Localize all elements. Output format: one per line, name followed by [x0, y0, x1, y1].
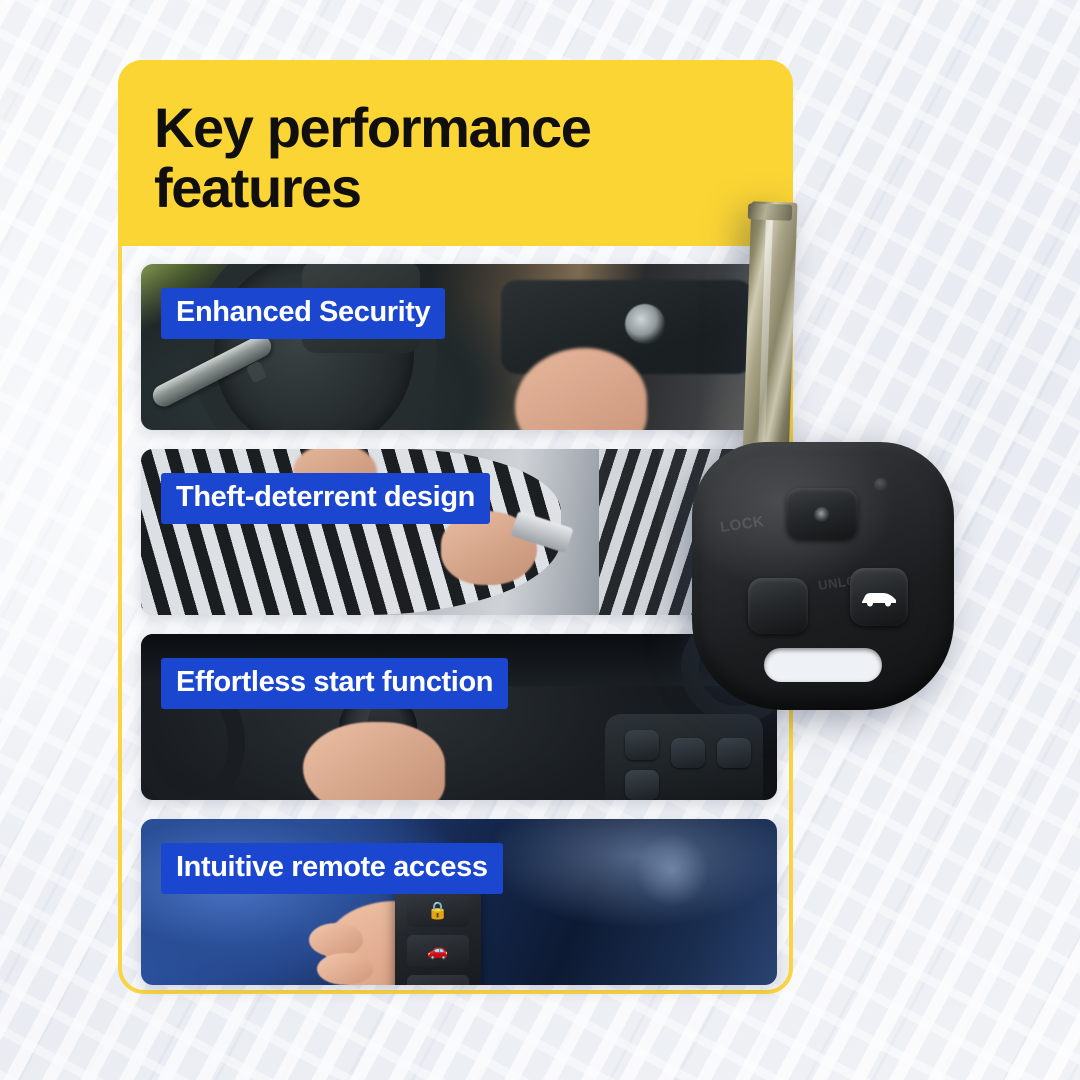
key-ring-hole: [764, 648, 882, 682]
console-button-power: [625, 730, 659, 760]
bokeh-light-circle: [635, 833, 709, 907]
console-button-vol: [625, 770, 659, 800]
hand-turning-key: [303, 722, 445, 800]
console-button-nav: [671, 738, 705, 768]
console-button-home: [717, 738, 751, 768]
finger-1: [309, 923, 363, 957]
feature-badge-2: Theft-deterrent design: [161, 473, 490, 524]
infographic-page: Key performance features Enhanced Securi…: [0, 0, 1080, 1080]
key-blade-tip-notch: [748, 203, 793, 221]
product-key-fob-image: LOCK UNLOCK: [692, 196, 992, 716]
feature-list: Enhanced Security Theft-deterrent design: [141, 264, 777, 1004]
remote-lock-button-icon: 🔒: [407, 895, 469, 927]
feature-item-effortless-start-function[interactable]: Effortless start function: [141, 634, 777, 800]
feature-item-enhanced-security[interactable]: Enhanced Security: [141, 264, 777, 430]
feature-item-intuitive-remote-access[interactable]: 🔒 🚗 Intuitive remote access: [141, 819, 777, 985]
feature-badge-4: Intuitive remote access: [161, 843, 503, 894]
feature-badge-3: Effortless start function: [161, 658, 508, 709]
car-trunk-icon: [860, 587, 898, 607]
dashboard-knob: [625, 304, 665, 344]
remote-key-body: 🔒 🚗: [395, 883, 481, 985]
finger-2: [317, 953, 373, 985]
key-fob-unlock-button: [748, 578, 808, 634]
feature-badge-1: Enhanced Security: [161, 288, 445, 339]
feature-item-theft-deterrent-design[interactable]: Theft-deterrent design: [141, 449, 777, 615]
key-fob-trunk-button: [850, 568, 908, 626]
lock-button-center-dot-icon: [814, 507, 830, 523]
remote-car-button-icon: 🚗: [407, 935, 469, 967]
indicator-led: [874, 478, 888, 492]
page-title: Key performance features: [154, 98, 764, 218]
remote-third-button-icon: [407, 975, 469, 985]
